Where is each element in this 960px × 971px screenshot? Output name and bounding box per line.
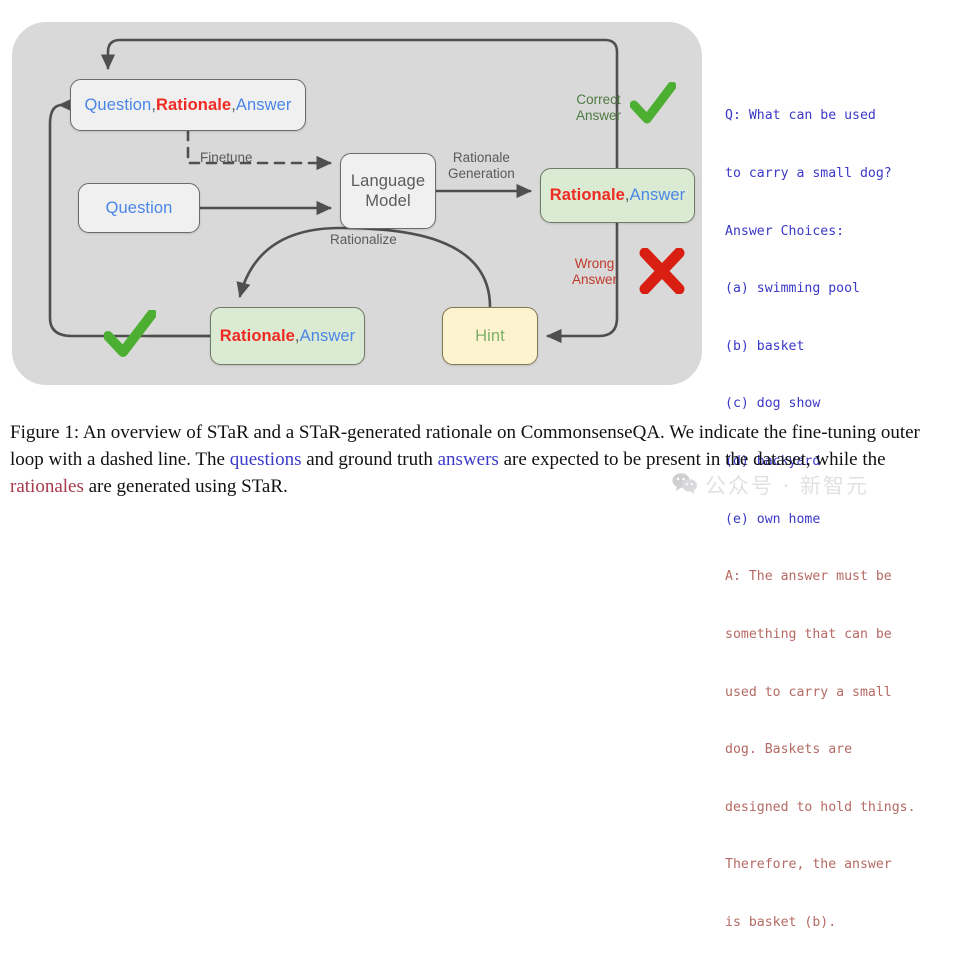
qa-answer-line: designed to hold things. <box>725 798 953 817</box>
qa-question-line: Q: What can be used <box>725 106 953 125</box>
caption-word-rationales: rationales <box>10 476 84 497</box>
node-hint[interactable]: Hint <box>442 307 538 365</box>
qa-question-line: to carry a small dog? <box>725 164 953 183</box>
node-question[interactable]: Question <box>78 183 200 233</box>
node-language-model[interactable]: Language Model <box>340 153 436 229</box>
edge-label-finetune: Finetune <box>200 150 253 166</box>
caption-word-answers: answers <box>438 449 499 470</box>
node-question-rationale-answer[interactable]: Question, Rationale, Answer <box>70 79 306 131</box>
qa-question-line: (c) dog show <box>725 394 953 413</box>
qa-question-line: (a) swimming pool <box>725 279 953 298</box>
node-rationalized-rationale-answer[interactable]: Rationale, Answer <box>210 307 365 365</box>
node-rationalized-answer: Answer <box>300 327 356 346</box>
node-generated-answer: Answer <box>630 186 686 205</box>
qa-answer-line: Therefore, the answer <box>725 855 953 874</box>
node-generated-rationale-answer[interactable]: Rationale, Answer <box>540 168 695 223</box>
qa-answer-line: is basket (b). <box>725 913 953 932</box>
qa-question-line: (e) own home <box>725 510 953 529</box>
figure-area: Question, Rationale, Answer Question Lan… <box>0 0 960 410</box>
qa-question-line: Answer Choices: <box>725 222 953 241</box>
green-check-icon <box>104 310 156 365</box>
edge-label-wrong-answer: Wrong Answer <box>572 256 617 288</box>
qa-question-line: (b) basket <box>725 337 953 356</box>
node-hint-label: Hint <box>475 327 505 346</box>
qa-answer-line: used to carry a small <box>725 683 953 702</box>
red-cross-icon <box>638 248 686 299</box>
edge-label-rationale-generation: Rationale Generation <box>448 150 515 182</box>
caption-segment-3: are expected to be present in the datase… <box>499 449 886 470</box>
node-question-label: Question <box>106 199 173 218</box>
qa-answer-line: dog. Baskets are <box>725 740 953 759</box>
node-qra-rationale: Rationale <box>156 96 231 115</box>
qa-answer-line: A: The answer must be <box>725 567 953 586</box>
node-language-model-line1: Language <box>351 171 425 191</box>
caption-word-questions: questions <box>230 449 302 470</box>
node-qra-answer: Answer <box>236 96 292 115</box>
node-language-model-line2: Model <box>365 191 410 211</box>
edge-label-correct-answer: Correct Answer <box>576 92 621 124</box>
node-generated-rationale: Rationale <box>550 186 625 205</box>
caption-segment-2: and ground truth <box>301 449 437 470</box>
qa-example-block: Q: What can be used to carry a small dog… <box>725 68 953 971</box>
edge-label-rationalize: Rationalize <box>330 232 397 248</box>
green-check-icon <box>630 82 676 131</box>
node-qra-question: Question <box>84 96 151 115</box>
qa-answer-line: something that can be <box>725 625 953 644</box>
figure-caption: Figure 1: An overview of STaR and a STaR… <box>10 420 950 501</box>
caption-segment-4: are generated using STaR. <box>84 476 288 497</box>
node-rationalized-rationale: Rationale <box>220 327 295 346</box>
